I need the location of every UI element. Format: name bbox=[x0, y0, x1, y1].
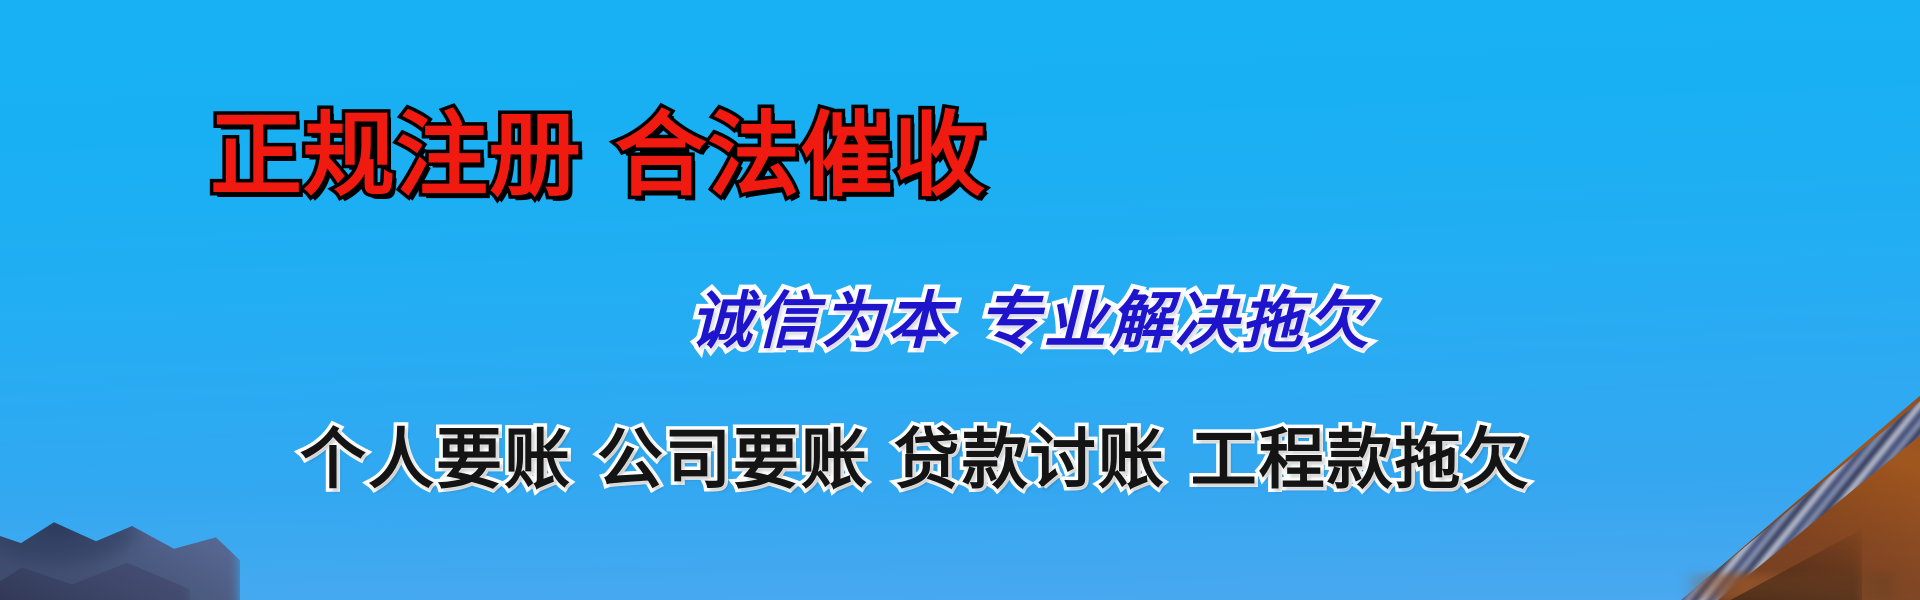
banner-headline: 正规注册 合法催收 bbox=[210, 108, 986, 205]
promo-banner: 正规注册 合法催收 诚信为本 专业解决拖欠 个人要账 公司要账 贷款讨账 工程款… bbox=[0, 0, 1920, 600]
banner-text-layer: 正规注册 合法催收 诚信为本 专业解决拖欠 个人要账 公司要账 贷款讨账 工程款… bbox=[0, 0, 1920, 600]
banner-subline: 诚信为本 专业解决拖欠 bbox=[690, 288, 1373, 353]
banner-services-list: 个人要账 公司要账 贷款讨账 工程款拖欠 bbox=[300, 425, 1531, 494]
